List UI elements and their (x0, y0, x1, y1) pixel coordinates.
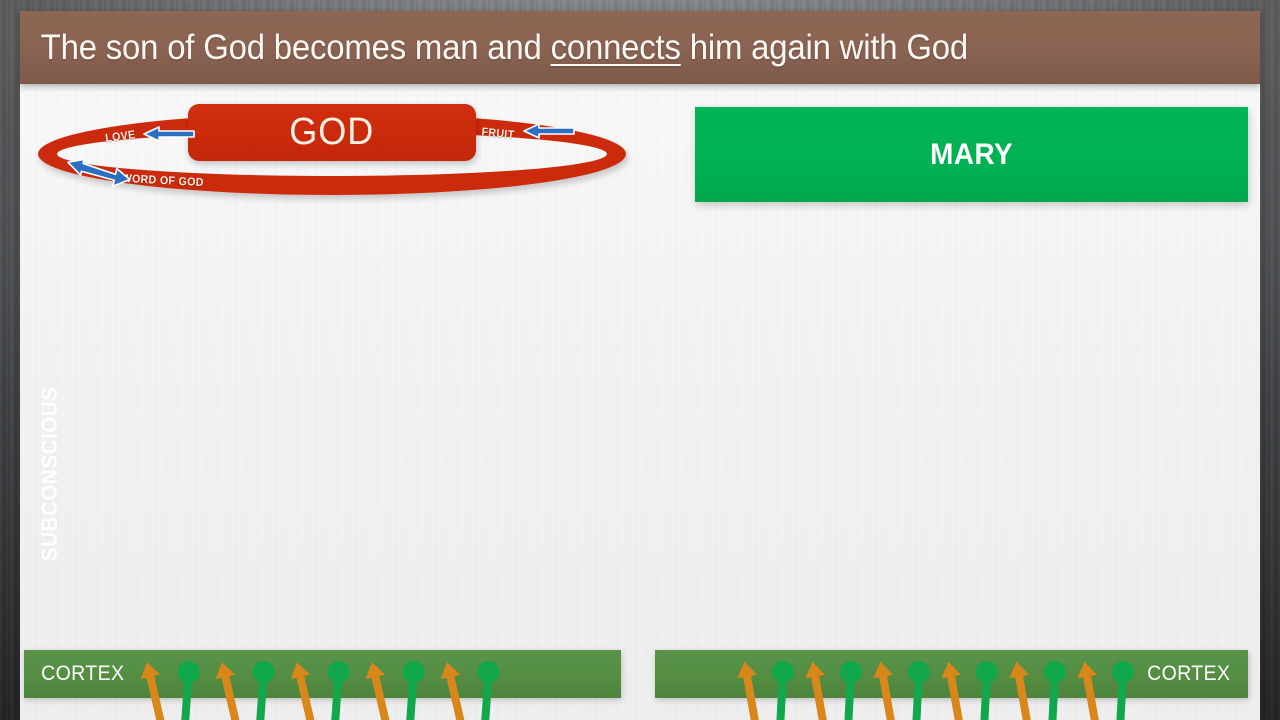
god-diagram-group: GOD LOVE FRUIT WORD OF GOD (30, 100, 640, 205)
cortex-bar-left: CORTEX (24, 650, 621, 698)
cortex-left-label: CORTEX (28, 662, 137, 686)
fruit-arrow-icon (510, 122, 580, 140)
subconscious-label: SUBCONSCIOUS (33, 365, 67, 583)
cortex-bar-right: CORTEX (655, 650, 1248, 698)
title-suffix: him again with God (681, 28, 968, 67)
slide-title: The son of God becomes man and connects … (20, 28, 968, 68)
subconscious-label-text: SUBCONSCIOUS (37, 387, 63, 562)
word-of-god-arrow-icon (60, 162, 138, 188)
god-box[interactable]: GOD (188, 104, 476, 161)
slide-title-bar: The son of God becomes man and connects … (20, 11, 1260, 84)
presentation-slide: The son of God becomes man and connects … (0, 0, 1280, 720)
title-prefix: The son of God becomes man and (41, 28, 551, 67)
mary-box[interactable]: MARY (695, 107, 1248, 202)
cortex-right-label: CORTEX (1135, 662, 1244, 686)
god-box-label: GOD (289, 111, 374, 154)
mary-box-label: MARY (930, 138, 1013, 172)
love-arrow-icon (128, 125, 198, 143)
title-underlined-word: connects (551, 28, 681, 67)
